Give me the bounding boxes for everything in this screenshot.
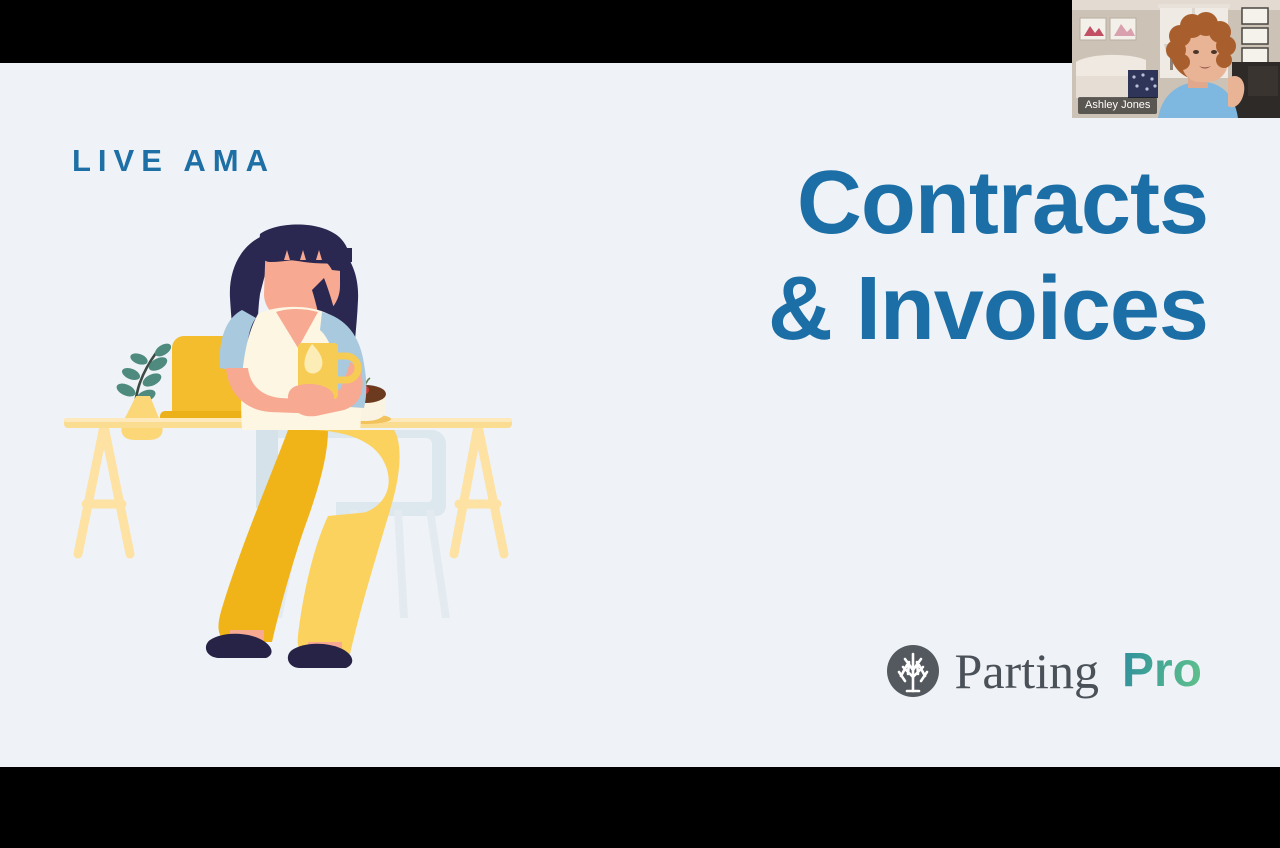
webcam-participant-name: Ashley Jones: [1078, 97, 1157, 114]
letterbox-bottom: [0, 787, 1280, 848]
presentation-slide: LIVE AMA Contracts & Invoices: [0, 63, 1280, 767]
slide-title-line-1: Contracts: [768, 158, 1208, 248]
parting-pro-logo: Parting Pro: [885, 643, 1202, 699]
slide-title-line-2: & Invoices: [768, 264, 1208, 354]
person-figure: [206, 225, 400, 669]
slide-title: Contracts & Invoices: [768, 158, 1208, 354]
logo-wordmark-pro: Pro: [1122, 647, 1202, 695]
logo-wordmark-parting: Parting: [955, 646, 1099, 696]
slide-eyebrow-live-ama: LIVE AMA: [72, 143, 275, 179]
illustration-woman-at-desk: [60, 218, 560, 668]
tree-in-circle-icon: [885, 643, 941, 699]
webcam-participant-tile[interactable]: Ashley Jones: [1072, 0, 1280, 118]
screen-share-view: LIVE AMA Contracts & Invoices: [0, 0, 1280, 848]
illustration-svg: [60, 218, 560, 668]
